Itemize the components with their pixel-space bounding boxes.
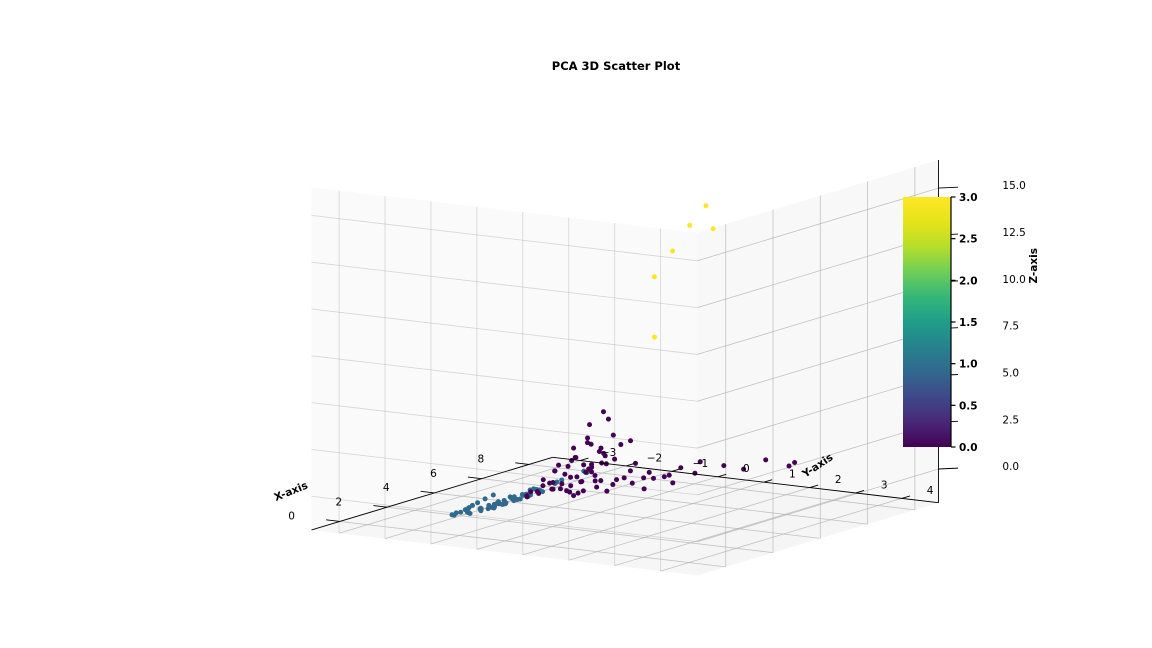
colorbar-tick-label: 1.0: [959, 359, 978, 371]
y-tick-label: −2: [647, 452, 662, 464]
data-point[interactable]: [468, 511, 473, 516]
data-point[interactable]: [585, 435, 590, 440]
x-tick-label: 6: [430, 468, 437, 480]
data-point[interactable]: [573, 455, 578, 460]
data-point[interactable]: [547, 481, 552, 486]
data-point[interactable]: [593, 478, 598, 483]
z-tick-label: 7.5: [1002, 321, 1019, 333]
data-point[interactable]: [585, 440, 590, 445]
x-tick-label: 2: [336, 497, 343, 509]
data-point[interactable]: [703, 203, 708, 208]
data-point[interactable]: [606, 417, 611, 422]
data-point[interactable]: [452, 513, 457, 518]
data-point[interactable]: [618, 442, 623, 447]
z-tick-label: 2.5: [1002, 414, 1019, 426]
data-point[interactable]: [647, 470, 652, 475]
data-point[interactable]: [489, 505, 494, 510]
data-point[interactable]: [641, 475, 646, 480]
data-point[interactable]: [692, 471, 697, 476]
z-axis-label: Z-axis: [1028, 248, 1040, 284]
data-point[interactable]: [630, 481, 635, 486]
data-point[interactable]: [540, 483, 545, 488]
x-tick-label: 0: [288, 511, 295, 523]
data-point[interactable]: [652, 274, 657, 279]
data-point[interactable]: [581, 462, 586, 467]
z-tick-label: 15.0: [1002, 180, 1025, 192]
figure-canvas: PCA 3D Scatter Plot 02468X-axis−3−2−1012…: [0, 0, 1152, 648]
y-tick-label: −1: [693, 458, 708, 470]
data-point[interactable]: [574, 474, 579, 479]
data-point[interactable]: [628, 438, 633, 443]
data-point[interactable]: [642, 486, 647, 491]
data-point[interactable]: [598, 478, 603, 483]
data-point[interactable]: [559, 481, 564, 486]
data-point[interactable]: [551, 487, 556, 492]
data-point[interactable]: [614, 477, 619, 482]
z-tick-label: 10.0: [1002, 274, 1025, 286]
colorbar-tick-label: 0.5: [959, 400, 978, 412]
data-point[interactable]: [528, 489, 533, 494]
data-point[interactable]: [662, 474, 667, 479]
data-point[interactable]: [589, 465, 594, 470]
data-point[interactable]: [568, 483, 573, 488]
x-tick-label: 4: [383, 482, 390, 494]
data-point[interactable]: [541, 477, 546, 482]
colorbar-tick-label: 3.0: [959, 192, 978, 204]
data-point[interactable]: [611, 433, 616, 438]
x-axis-label: X-axis: [272, 480, 309, 504]
data-point[interactable]: [628, 468, 633, 473]
data-point[interactable]: [483, 496, 488, 501]
colorbar: 0.00.51.01.52.02.53.0: [880, 180, 1000, 470]
y-tick-label: 0: [743, 463, 750, 475]
data-point[interactable]: [622, 475, 627, 480]
data-point[interactable]: [652, 335, 657, 340]
data-point[interactable]: [651, 476, 656, 481]
data-point[interactable]: [562, 472, 567, 477]
z-tick-label: 5.0: [1002, 368, 1019, 380]
data-point[interactable]: [792, 460, 797, 465]
data-point[interactable]: [558, 486, 563, 491]
colorbar-gradient[interactable]: [903, 197, 951, 447]
data-point[interactable]: [571, 446, 576, 451]
data-point[interactable]: [670, 480, 675, 485]
data-point[interactable]: [604, 489, 609, 494]
colorbar-tick-label: 0.0: [959, 442, 978, 454]
colorbar-tick-label: 1.5: [959, 317, 978, 329]
data-point[interactable]: [576, 491, 581, 496]
y-tick-label: 4: [927, 485, 934, 497]
data-point[interactable]: [711, 226, 716, 231]
data-point[interactable]: [578, 479, 583, 484]
data-point[interactable]: [556, 463, 561, 468]
z-tick-label: 0.0: [1002, 461, 1019, 473]
data-point[interactable]: [594, 485, 599, 490]
data-point[interactable]: [458, 510, 463, 515]
data-point[interactable]: [670, 248, 675, 253]
colorbar-tick-label: 2.0: [959, 275, 978, 287]
data-point[interactable]: [566, 464, 571, 469]
data-point[interactable]: [687, 223, 692, 228]
data-point[interactable]: [667, 473, 672, 478]
y-tick-label: −3: [601, 447, 616, 459]
data-point[interactable]: [478, 508, 483, 513]
data-point[interactable]: [553, 468, 558, 473]
data-point[interactable]: [491, 493, 496, 498]
data-point[interactable]: [511, 498, 516, 503]
colorbar-tick-label: 2.5: [959, 234, 978, 246]
data-point[interactable]: [583, 470, 588, 475]
data-point[interactable]: [525, 494, 530, 499]
data-point[interactable]: [581, 488, 586, 493]
data-point[interactable]: [567, 490, 572, 495]
y-tick-label: 2: [835, 474, 842, 486]
data-point[interactable]: [587, 422, 592, 427]
data-point[interactable]: [568, 475, 573, 480]
data-point[interactable]: [592, 473, 597, 478]
data-point[interactable]: [721, 463, 726, 468]
y-tick-label: 3: [881, 479, 888, 491]
data-point[interactable]: [601, 409, 606, 414]
data-point[interactable]: [571, 493, 576, 498]
data-point[interactable]: [763, 457, 768, 462]
data-point[interactable]: [536, 491, 541, 496]
data-point[interactable]: [610, 482, 615, 487]
y-tick-label: 1: [789, 469, 796, 481]
z-tick-label: 12.5: [1002, 227, 1025, 239]
data-point[interactable]: [500, 502, 505, 507]
data-point[interactable]: [475, 500, 480, 505]
x-tick-label: 8: [477, 454, 484, 466]
